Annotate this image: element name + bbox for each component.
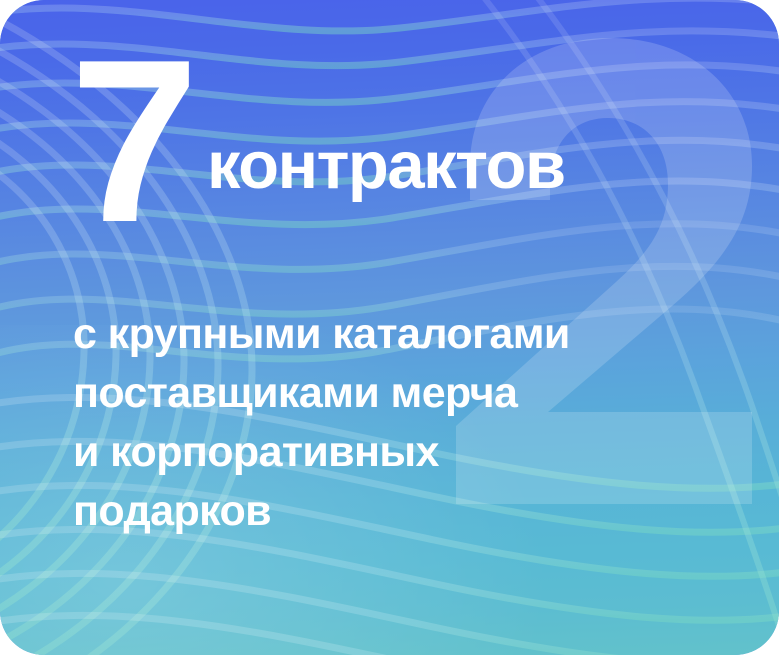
body-line-4: подарков: [73, 482, 733, 541]
body-description: с крупными каталогами поставщиками мерча…: [73, 305, 733, 541]
body-line-3: и корпоративных: [73, 423, 733, 482]
headline: 7 контрактов: [70, 46, 565, 227]
headline-word-label: контрактов: [207, 132, 565, 227]
body-line-2: поставщиками мерча: [73, 364, 733, 423]
contract-count-number: 7: [70, 52, 193, 233]
card-content: 7 контрактов с крупными каталогами поста…: [0, 0, 779, 655]
info-card: 7 контрактов с крупными каталогами поста…: [0, 0, 779, 655]
body-line-1: с крупными каталогами: [73, 305, 733, 364]
